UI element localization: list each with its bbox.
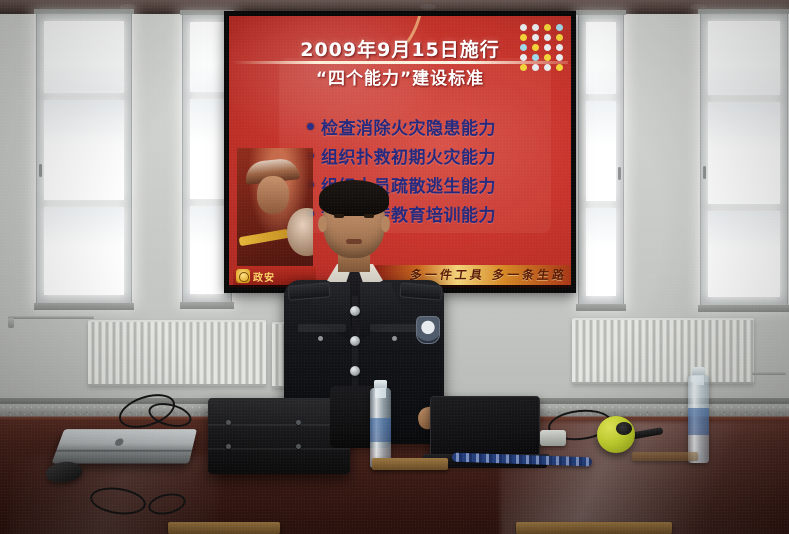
dot xyxy=(544,44,551,51)
yellow-ball-toy[interactable] xyxy=(597,416,635,453)
window-sill xyxy=(698,305,789,312)
window-handle[interactable] xyxy=(618,167,621,180)
dot xyxy=(532,64,539,71)
heating-pipe-left-2 xyxy=(8,318,14,328)
bullet-item: 检查消除火灾隐患能力 xyxy=(307,112,557,141)
window-sill xyxy=(576,304,626,311)
chest-pocket-left xyxy=(298,324,346,332)
dot xyxy=(556,54,563,61)
bottle-label xyxy=(688,408,709,434)
ear-right xyxy=(381,216,390,232)
dot xyxy=(520,44,527,51)
window-pane-top xyxy=(708,21,780,95)
shield-badge-icon xyxy=(236,269,250,283)
case-stud xyxy=(296,444,301,449)
dot xyxy=(532,24,539,31)
pocket-button xyxy=(318,336,323,341)
shoulder-patch-icon xyxy=(416,316,440,344)
window-right-1 xyxy=(578,14,624,306)
dot xyxy=(544,54,551,61)
window-lintel xyxy=(576,10,626,15)
wooden-tray-left[interactable] xyxy=(168,522,280,534)
dot xyxy=(520,34,527,41)
dot xyxy=(556,64,563,71)
window-pane-top xyxy=(586,22,616,94)
hair xyxy=(319,180,389,216)
water-bottle-right[interactable] xyxy=(688,375,709,463)
bottle-neck xyxy=(375,388,386,398)
uniform-button xyxy=(350,336,360,346)
window-handle[interactable] xyxy=(39,164,42,177)
window-pane-middle xyxy=(708,102,780,204)
dot xyxy=(556,24,563,31)
window-pane-bottom xyxy=(708,211,780,297)
bullet-dot-icon xyxy=(307,123,314,130)
heating-pipe-left xyxy=(8,316,94,319)
bullet-item: 组织扑救初期火灾能力 xyxy=(307,141,557,170)
window-pane-top xyxy=(190,22,224,92)
uniform-button xyxy=(350,306,360,316)
case-stud xyxy=(226,444,231,449)
window-pane-top xyxy=(44,21,124,93)
mouth xyxy=(346,239,362,244)
dot xyxy=(544,34,551,41)
case-stud xyxy=(226,420,231,425)
eye-left xyxy=(334,214,344,218)
window-pane-middle xyxy=(44,100,124,200)
bottle-label xyxy=(370,418,391,442)
laptop-screen[interactable] xyxy=(430,396,540,460)
bullet-label: 检查消除火灾隐患能力 xyxy=(321,114,496,139)
dot xyxy=(544,24,551,31)
window-lintel xyxy=(34,9,134,14)
window-pane-middle xyxy=(586,101,616,201)
window-handle[interactable] xyxy=(703,166,706,179)
window-sill xyxy=(180,302,234,309)
eye-right xyxy=(364,214,374,218)
dot xyxy=(532,44,539,51)
laptop-seam xyxy=(56,450,192,452)
decorative-dot-grid xyxy=(520,24,565,71)
photo-scene: 2009年9月15日施行 “四个能力”建设标准 xyxy=(0,0,789,534)
case-stud xyxy=(296,420,301,425)
wooden-tray-edge[interactable] xyxy=(632,452,698,461)
dot xyxy=(520,24,527,31)
dot xyxy=(532,34,539,41)
radiator-left xyxy=(88,320,266,386)
window-lintel xyxy=(698,9,789,14)
pocket-button xyxy=(392,336,397,341)
water-bottle-center[interactable] xyxy=(370,388,391,468)
bullet-label: 组织扑救初期火灾能力 xyxy=(321,143,496,168)
laptop-lid-logo-icon xyxy=(114,438,124,446)
dot xyxy=(556,44,563,51)
window-left-1 xyxy=(36,13,132,305)
dot xyxy=(520,64,527,71)
window-pane-bottom xyxy=(190,206,224,294)
wooden-tray-center[interactable] xyxy=(372,458,448,470)
heating-pipe-right xyxy=(752,372,786,375)
dot xyxy=(520,54,527,61)
uniform-button xyxy=(350,366,360,376)
wooden-tray-right[interactable] xyxy=(516,522,672,534)
radiator-right xyxy=(572,318,754,384)
small-white-device[interactable] xyxy=(540,430,566,446)
dot xyxy=(544,64,551,71)
ear-left xyxy=(318,216,327,232)
closed-laptop[interactable] xyxy=(51,429,197,463)
dot xyxy=(532,54,539,61)
toy-eye-icon xyxy=(616,422,632,435)
chest-pocket-right xyxy=(370,324,418,332)
window-pane-bottom xyxy=(44,207,124,295)
dot xyxy=(556,34,563,41)
window-pane-middle xyxy=(190,99,224,199)
window-sill xyxy=(34,303,134,310)
bottle-neck xyxy=(693,375,704,385)
black-equipment-case[interactable] xyxy=(208,398,350,474)
window-right-2 xyxy=(700,13,788,307)
window-pane-bottom xyxy=(586,208,616,296)
